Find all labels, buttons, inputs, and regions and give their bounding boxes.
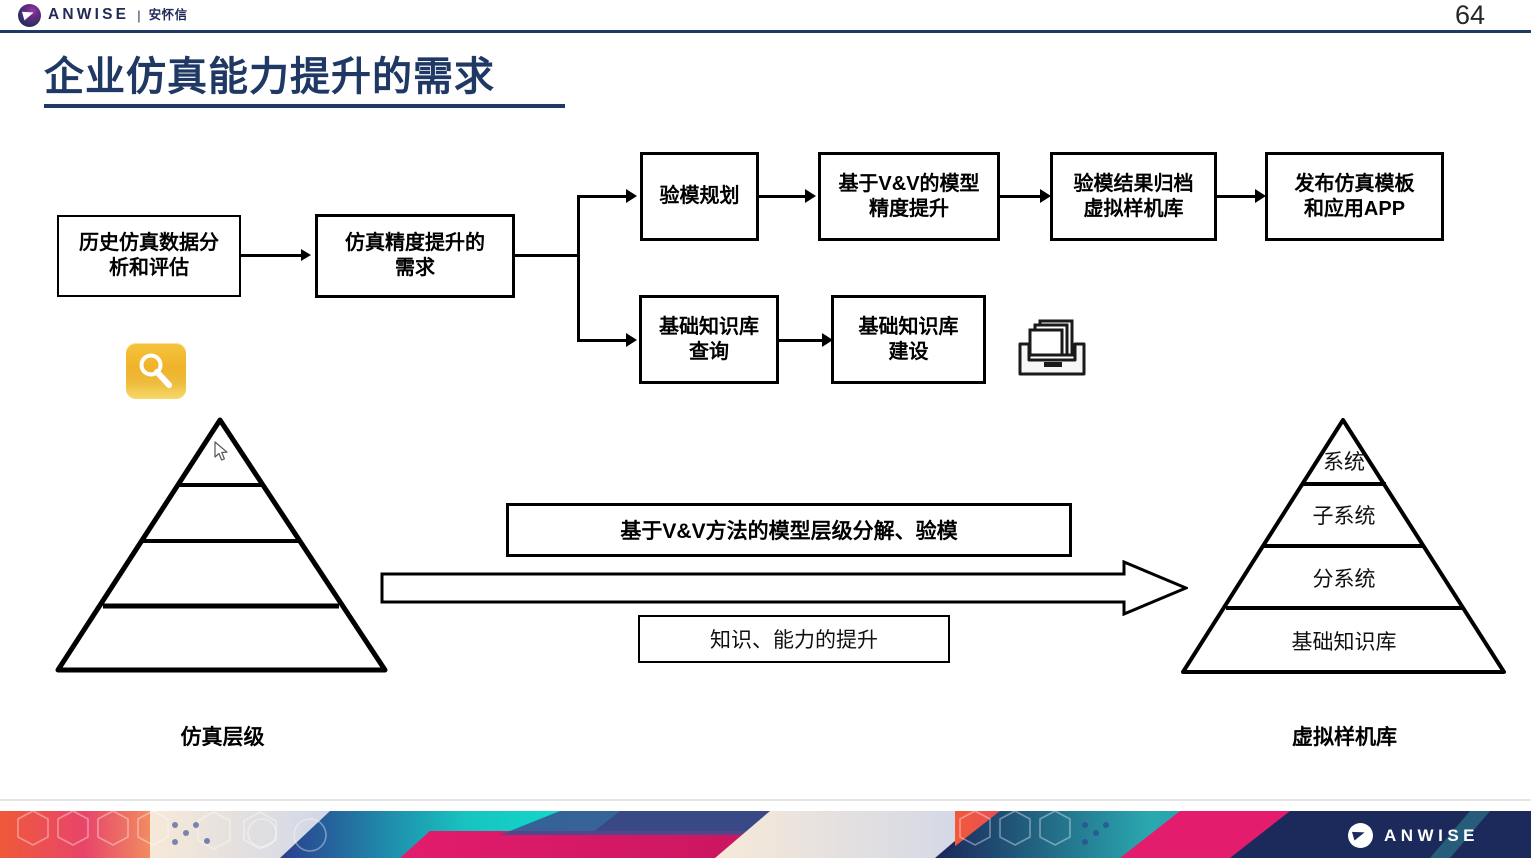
file-box-archive-icon: [1012, 316, 1092, 384]
middle-label-top-text: 基于V&V方法的模型层级分解、验模: [620, 515, 957, 545]
branch-stem: [515, 254, 580, 257]
right-block-arrow-icon: [380, 560, 1188, 616]
flow-box-label: 仿真精度提升的 需求: [345, 231, 485, 281]
branch-to-row2: [577, 339, 628, 342]
pyramid-right-caption: 虚拟样机库: [1242, 727, 1447, 748]
flow-box-kb-query[interactable]: 基础知识库 查询: [639, 295, 779, 384]
archive-glyph: [1012, 316, 1092, 384]
connector-b1-b2: [241, 254, 303, 257]
flow-box-vv-precision[interactable]: 基于V&V的模型 精度提升: [818, 152, 1000, 241]
cursor-glyph: [214, 441, 230, 463]
connector-b7-b8: [779, 339, 824, 342]
anwise-swoosh-icon: [1348, 823, 1373, 848]
anwise-swoosh-icon: [18, 4, 41, 27]
pyramid-right-level-3: 分系统: [1178, 569, 1510, 590]
magnifier-glyph: [126, 343, 186, 399]
flow-box-label: 基础知识库 查询: [659, 315, 759, 365]
footer-brand-wordmark: ANWISE: [1384, 827, 1479, 844]
pyramid-right-level-2: 子系统: [1178, 506, 1510, 527]
brand-separator: |: [137, 9, 140, 22]
branch-row2-arrowhead: [626, 333, 637, 347]
flow-box-validation-planning[interactable]: 验模规划: [640, 152, 759, 241]
flow-box-label: 基于V&V的模型 精度提升: [838, 172, 979, 222]
flow-box-history-data[interactable]: 历史仿真数据分 析和评估: [57, 215, 241, 297]
flow-box-label: 基础知识库 建设: [859, 315, 959, 365]
flow-box-archive-results[interactable]: 验模结果归档 虚拟样机库: [1050, 152, 1217, 241]
brand-wordmark: ANWISE: [48, 7, 129, 23]
middle-label-knowledge-capability[interactable]: 知识、能力的提升: [638, 615, 950, 663]
connector-b3-b4: [759, 195, 807, 198]
pyramid-right-level-4: 基础知识库: [1178, 632, 1510, 653]
pyramid-right: 系统 子系统 分系统 基础知识库: [1178, 414, 1510, 676]
page-number: 64: [1455, 0, 1485, 30]
brand-logo: ANWISE | 安怀信: [18, 3, 188, 27]
footer-brand-logo: ANWISE: [1348, 822, 1479, 848]
pyramid-right-level-1: 系统: [1178, 452, 1510, 473]
footer-decorative-graphic: [0, 811, 1531, 858]
flow-box-kb-build[interactable]: 基础知识库 建设: [831, 295, 986, 384]
pyramid-left-caption: 仿真层级: [120, 727, 325, 748]
connector-b5-b6: [1217, 195, 1258, 198]
flow-box-label: 验模规划: [660, 184, 740, 209]
connector-b3-b4-arrowhead: [805, 189, 816, 203]
middle-label-bottom-text: 知识、能力的提升: [710, 624, 878, 654]
branch-row1-arrowhead: [626, 189, 637, 203]
header-divider: [0, 30, 1531, 33]
top-bar: ANWISE | 安怀信 64: [0, 0, 1531, 31]
flow-box-publish-template[interactable]: 发布仿真模板 和应用APP: [1265, 152, 1444, 241]
flow-box-precision-demand[interactable]: 仿真精度提升的 需求: [315, 214, 515, 298]
connector-b4-b5: [1000, 195, 1042, 198]
page-title: 企业仿真能力提升的需求: [44, 54, 495, 100]
flow-box-label: 历史仿真数据分 析和评估: [79, 231, 219, 281]
middle-label-vv-decomposition[interactable]: 基于V&V方法的模型层级分解、验模: [506, 503, 1072, 557]
branch-to-row1: [577, 195, 628, 198]
brand-chinese-name: 安怀信: [149, 9, 188, 22]
branch-spine: [577, 195, 580, 342]
mouse-pointer-icon: [214, 441, 230, 463]
title-underline: [44, 104, 565, 108]
connector-b1-b2-arrowhead: [301, 249, 311, 261]
magnifier-icon[interactable]: [126, 343, 186, 399]
block-arrow-shape: [380, 560, 1188, 616]
footer-divider: [0, 799, 1531, 801]
flow-box-label: 发布仿真模板 和应用APP: [1295, 172, 1415, 222]
flow-box-label: 验模结果归档 虚拟样机库: [1074, 172, 1194, 222]
footer-band: [0, 811, 1531, 858]
